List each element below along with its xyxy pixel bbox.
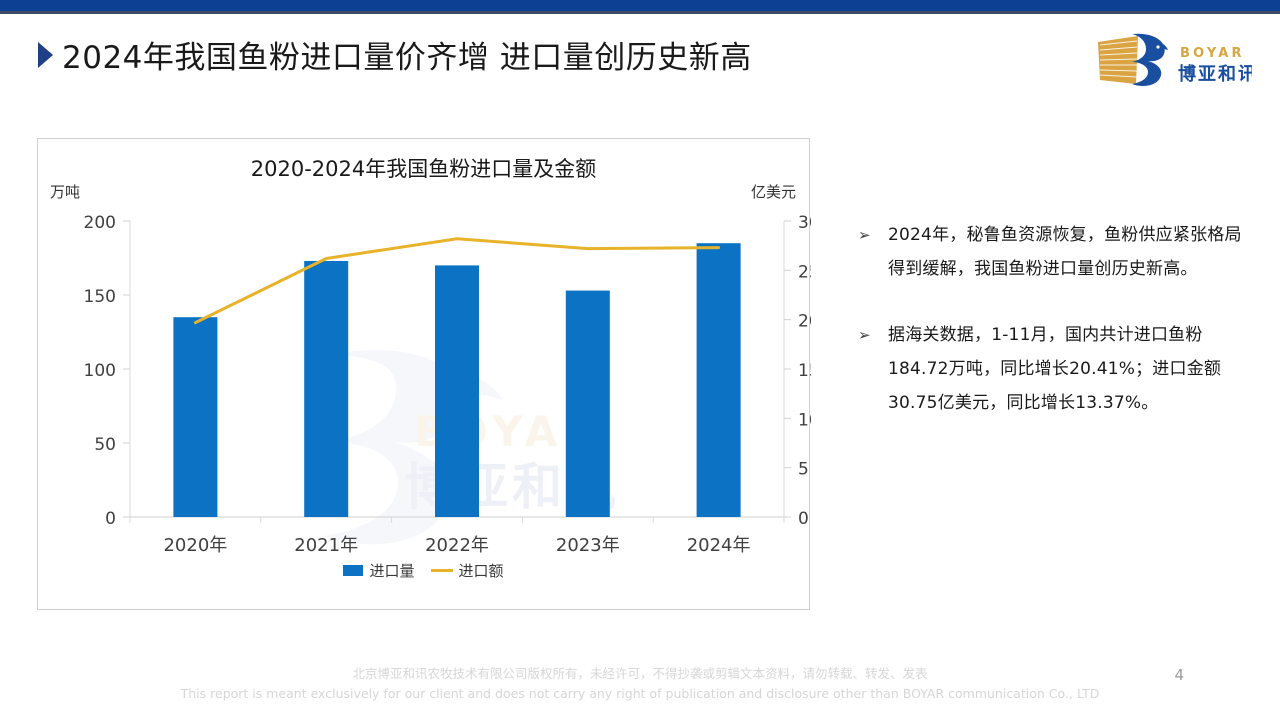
- footer-cn: 北京博亚和讯农牧技术有限公司版权所有，未经许可，不得抄袭或剪辑文本资料，请勿转载…: [0, 664, 1280, 684]
- footer-en: This report is meant exclusively for our…: [0, 684, 1280, 704]
- y-tick-label-left: 200: [84, 213, 116, 233]
- bullet-marker-icon: ➢: [858, 318, 888, 352]
- y-tick-label-right: 30: [798, 213, 811, 233]
- x-tick-label: 2023年: [556, 535, 620, 556]
- legend-item-line: 进口额: [431, 560, 504, 581]
- legend-swatch-bar-icon: [343, 565, 363, 576]
- bar: [435, 265, 479, 517]
- chart-panel: 2020-2024年我国鱼粉进口量及金额 万吨 亿美元 BOYAR 博亚和讯 0…: [37, 138, 810, 610]
- bullet-text: 据海关数据，1-11月，国内共计进口鱼粉184.72万吨，同比增长20.41%；…: [888, 318, 1250, 420]
- footer: 北京博亚和讯农牧技术有限公司版权所有，未经许可，不得抄袭或剪辑文本资料，请勿转载…: [0, 664, 1280, 704]
- logo-wing-icon: [1098, 36, 1138, 84]
- top-banner-shadow: [0, 11, 1280, 14]
- page-title: 2024年我国鱼粉进口量价齐增 进口量创历史新高: [62, 32, 752, 77]
- bullet-list: ➢ 2024年，秘鲁鱼资源恢复，鱼粉供应紧张格局得到缓解，我国鱼粉进口量创历史新…: [858, 218, 1250, 452]
- legend-item-bars: 进口量: [343, 560, 414, 581]
- chart-legend: 进口量 进口额: [38, 560, 809, 581]
- bullet-item: ➢ 2024年，秘鲁鱼资源恢复，鱼粉供应紧张格局得到缓解，我国鱼粉进口量创历史新…: [858, 218, 1250, 286]
- logo-cn-text: 博亚和讯: [1178, 63, 1252, 85]
- bar: [566, 291, 610, 517]
- x-tick-label: 2020年: [163, 535, 227, 556]
- y-tick-label-left: 0: [105, 509, 116, 529]
- legend-swatch-line-icon: [431, 569, 453, 572]
- bullet-marker-icon: ➢: [858, 218, 888, 252]
- page-title-row: 2024年我国鱼粉进口量价齐增 进口量创历史新高: [38, 32, 752, 77]
- plot-area: 0501001502000510152025302020年2021年2022年2…: [38, 139, 811, 611]
- triangle-bullet-icon: [38, 42, 53, 68]
- y-tick-label-left: 100: [84, 361, 116, 381]
- y-tick-label-right: 25: [798, 262, 811, 282]
- bullet-item: ➢ 据海关数据，1-11月，国内共计进口鱼粉184.72万吨，同比增长20.41…: [858, 318, 1250, 420]
- legend-label-bar: 进口量: [369, 560, 414, 581]
- top-banner: [0, 0, 1280, 11]
- page-number: 4: [1174, 666, 1184, 684]
- logo-latin-text: BOYAR: [1180, 46, 1245, 61]
- bar: [697, 243, 741, 517]
- y-tick-label-left: 150: [84, 287, 116, 307]
- y-tick-label-right: 10: [798, 410, 811, 430]
- bullet-text: 2024年，秘鲁鱼资源恢复，鱼粉供应紧张格局得到缓解，我国鱼粉进口量创历史新高。: [888, 218, 1250, 286]
- bar: [304, 261, 348, 517]
- y-tick-label-right: 20: [798, 312, 811, 332]
- boyar-logo: BOYAR 博亚和讯: [1092, 28, 1252, 92]
- slide: 2024年我国鱼粉进口量价齐增 进口量创历史新高: [0, 0, 1280, 720]
- x-tick-label: 2021年: [294, 535, 358, 556]
- x-tick-label: 2022年: [425, 535, 489, 556]
- x-tick-label: 2024年: [687, 535, 751, 556]
- y-tick-label-left: 50: [94, 435, 116, 455]
- y-tick-label-right: 15: [798, 361, 811, 381]
- legend-label-line: 进口额: [459, 560, 504, 581]
- y-tick-label-right: 0: [798, 509, 809, 529]
- bar: [173, 317, 217, 517]
- y-tick-label-right: 5: [798, 460, 809, 480]
